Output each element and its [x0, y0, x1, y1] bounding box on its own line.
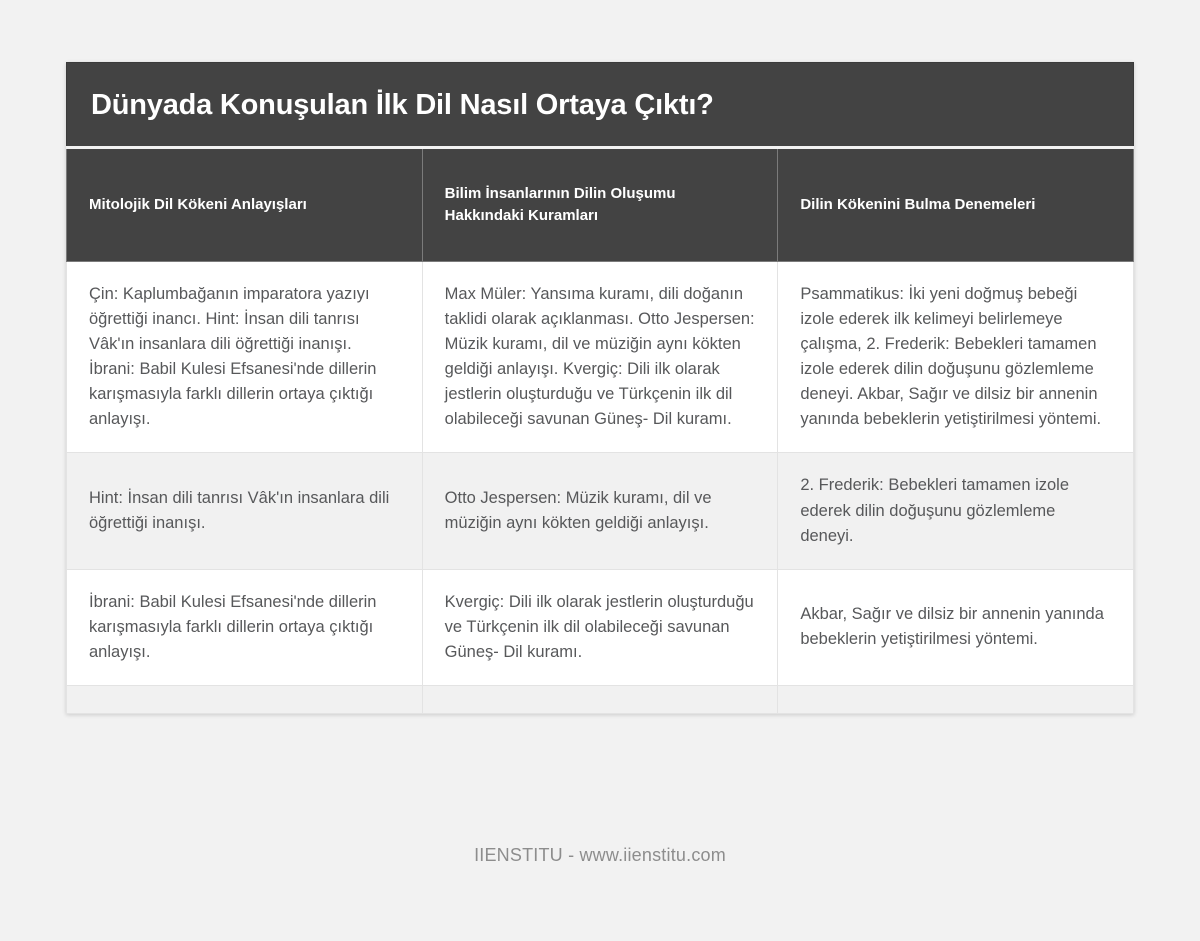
table-row-empty [67, 685, 1134, 713]
table-cell: Çin: Kaplumbağanın imparatora yazıyı öğr… [67, 262, 423, 453]
table-cell [67, 685, 423, 713]
table-cell: Hint: İnsan dili tanrısı Vâk'ın insanlar… [67, 453, 423, 569]
table-row: Çin: Kaplumbağanın imparatora yazıyı öğr… [67, 262, 1134, 453]
table-cell: Psammatikus: İki yeni doğmuş bebeği izol… [778, 262, 1134, 453]
table-head: Dünyada Konuşulan İlk Dil Nasıl Ortaya Ç… [67, 63, 1134, 262]
comparison-table: Dünyada Konuşulan İlk Dil Nasıl Ortaya Ç… [66, 62, 1134, 714]
column-header-kuramlar[interactable]: Bilim İnsanlarının Dilin Oluşumu Hakkınd… [422, 148, 778, 262]
table-row: Hint: İnsan dili tanrısı Vâk'ın insanlar… [67, 453, 1134, 569]
page-root: Dünyada Konuşulan İlk Dil Nasıl Ortaya Ç… [0, 0, 1200, 941]
table-title-row: Dünyada Konuşulan İlk Dil Nasıl Ortaya Ç… [67, 63, 1134, 148]
table-row: İbrani: Babil Kulesi Efsanesi'nde diller… [67, 569, 1134, 685]
column-header-mitolojik[interactable]: Mitolojik Dil Kökeni Anlayışları [67, 148, 423, 262]
table-title: Dünyada Konuşulan İlk Dil Nasıl Ortaya Ç… [67, 63, 1134, 148]
table-cell: Otto Jespersen: Müzik kuramı, dil ve müz… [422, 453, 778, 569]
comparison-table-container: Dünyada Konuşulan İlk Dil Nasıl Ortaya Ç… [66, 62, 1134, 714]
table-cell: Akbar, Sağır ve dilsiz bir annenin yanın… [778, 569, 1134, 685]
table-cell: Kvergiç: Dili ilk olarak jestlerin oluşt… [422, 569, 778, 685]
table-cell [778, 685, 1134, 713]
table-header-row: Mitolojik Dil Kökeni Anlayışları Bilim İ… [67, 148, 1134, 262]
footer-attribution: IIENSTITU - www.iienstitu.com [0, 845, 1200, 866]
column-header-denemeler[interactable]: Dilin Kökenini Bulma Denemeleri [778, 148, 1134, 262]
table-cell: İbrani: Babil Kulesi Efsanesi'nde diller… [67, 569, 423, 685]
table-cell: Max Müler: Yansıma kuramı, dili doğanın … [422, 262, 778, 453]
table-cell [422, 685, 778, 713]
table-cell: 2. Frederik: Bebekleri tamamen izole ede… [778, 453, 1134, 569]
table-body: Çin: Kaplumbağanın imparatora yazıyı öğr… [67, 262, 1134, 714]
